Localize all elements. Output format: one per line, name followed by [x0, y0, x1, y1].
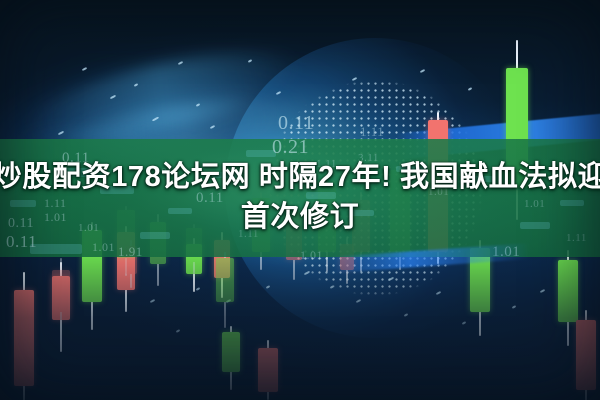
- headline-text: 炒股配资178论坛网 时隔27年! 我国献血法拟迎 首次修订: [0, 139, 600, 257]
- bottom-vignette: [0, 250, 600, 400]
- banner-image: 0.110.110.111.111.011.011.011.910.110.21…: [0, 0, 600, 400]
- headline-line-1: 炒股配资178论坛网 时隔27年! 我国献血法拟迎: [0, 160, 600, 196]
- headline-line-2: 首次修订: [241, 200, 359, 236]
